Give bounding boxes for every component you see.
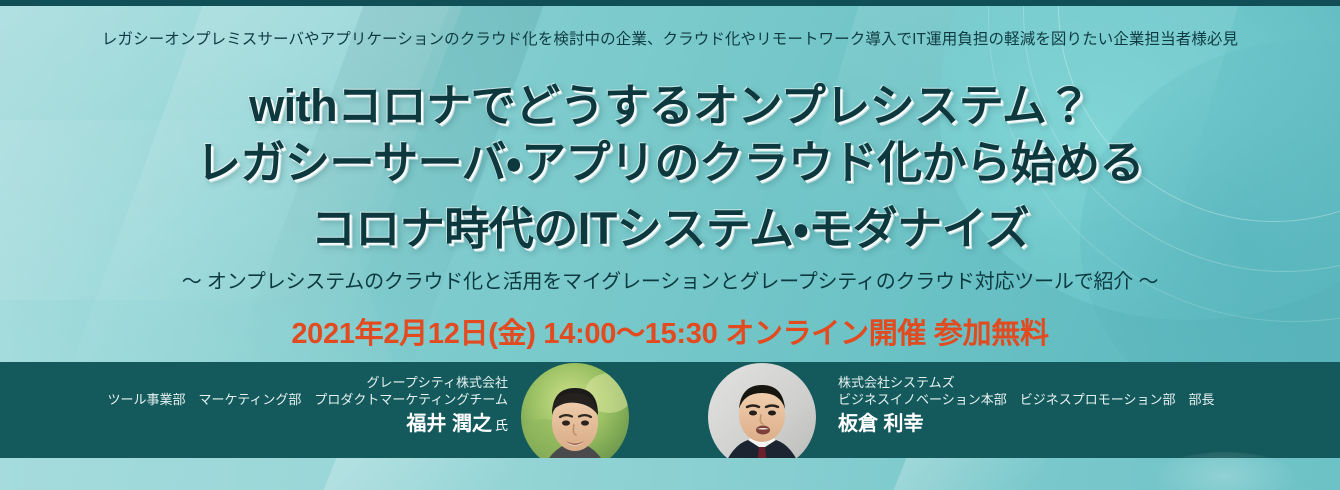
subheadline: 〜 オンプレシステムのクラウド化と活用をマイグレーションとグレープシティのクラウ… xyxy=(0,265,1340,294)
event-datetime: 2021年2月12日(金) 14:00〜15:30 オンライン開催 参加無料 xyxy=(0,310,1340,352)
speaker-2-organization: 株式会社システムズ xyxy=(838,374,1308,391)
speaker-2-name-text: 板倉 利幸 xyxy=(838,413,924,435)
top-accent-strip xyxy=(0,0,1340,6)
speaker-1-portrait xyxy=(521,363,629,471)
headline-line-3: コロナ時代のITシステム・モダナイズ xyxy=(0,192,1340,257)
speaker-2-name: 板倉 利幸 xyxy=(838,411,1308,437)
speaker-info-1: グレープシティ株式会社 ツール事業部 マーケティング部 プロダクトマーケティング… xyxy=(60,374,508,438)
bottom-strip-facet-2 xyxy=(894,458,1047,490)
bottom-strip-highlight xyxy=(1150,452,1300,490)
bottom-accent-strip xyxy=(0,458,1340,490)
speaker-1-honorific: 氏 xyxy=(495,418,508,433)
bottom-strip-facet-1 xyxy=(324,458,517,490)
target-audience-kicker: レガシーオンプレミスサーバやアプリケーションのクラウド化を検討中の企業、クラウド… xyxy=(0,27,1340,49)
speaker-1-name: 福井 潤之氏 xyxy=(60,411,508,437)
webinar-banner: レガシーオンプレミスサーバやアプリケーションのクラウド化を検討中の企業、クラウド… xyxy=(0,0,1340,490)
speaker-info-2: 株式会社システムズ ビジネスイノベーション本部 ビジネスプロモーション部 部長 … xyxy=(838,374,1308,438)
speaker-1-organization: グレープシティ株式会社 xyxy=(60,374,508,391)
speaker-1-name-text: 福井 潤之 xyxy=(406,413,492,435)
headline-line-1: withコロナでどうするオンプレシステム？ xyxy=(0,69,1340,134)
speaker-2-portrait-image xyxy=(708,363,816,471)
speaker-2-portrait xyxy=(708,363,816,471)
headline-line-2: レガシーサーバ・アプリのクラウド化から始める xyxy=(0,126,1340,191)
speaker-1-department: ツール事業部 マーケティング部 プロダクトマーケティングチーム xyxy=(60,391,508,408)
speaker-2-department: ビジネスイノベーション本部 ビジネスプロモーション部 部長 xyxy=(838,391,1308,408)
speaker-1-portrait-image xyxy=(521,363,629,471)
